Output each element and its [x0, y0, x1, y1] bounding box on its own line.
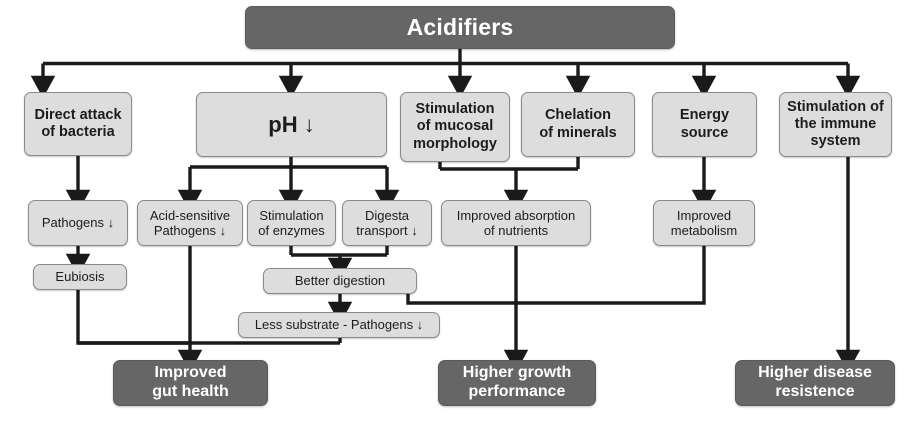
node-less-substrate-label: Less substrate - Pathogens ↓: [255, 317, 423, 332]
node-disease-resistence-label: Higher disease resistence: [758, 364, 872, 402]
node-eubiosis[interactable]: Eubiosis: [33, 264, 127, 290]
node-nutrient-absorption-label: Improved absorption of nutrients: [457, 208, 576, 239]
node-growth-performance[interactable]: Higher growth performance: [438, 360, 596, 406]
node-energy-source-label: Energy source: [680, 107, 729, 141]
node-acid-sensitive-label: Acid-sensitive Pathogens ↓: [150, 208, 230, 239]
wire-digestion-to-growth: [408, 294, 516, 303]
node-mucosal-morphology-label: Stimulation of mucosal morphology: [413, 101, 497, 152]
node-metabolism-label: Improved metabolism: [671, 208, 737, 239]
node-pathogens-label: Pathogens ↓: [42, 215, 114, 230]
node-ph-down-label: pH ↓: [268, 112, 314, 138]
flowchart-canvas: Acidifiers Direct attack of bacteria pH …: [0, 0, 920, 422]
node-better-digestion-label: Better digestion: [295, 273, 385, 288]
wire-metabolism-to-growth: [516, 246, 704, 303]
node-direct-attack-label: Direct attack of bacteria: [34, 107, 121, 141]
node-growth-performance-label: Higher growth performance: [463, 364, 571, 402]
node-metabolism[interactable]: Improved metabolism: [653, 200, 755, 246]
node-gut-health[interactable]: Improved gut health: [113, 360, 268, 406]
node-acidifiers[interactable]: Acidifiers: [245, 6, 675, 49]
node-immune-system-label: Stimulation of the immune system: [787, 99, 884, 150]
node-acidifiers-label: Acidifiers: [407, 14, 514, 41]
node-enzymes[interactable]: Stimulation of enzymes: [247, 200, 336, 246]
node-mucosal-morphology[interactable]: Stimulation of mucosal morphology: [400, 92, 510, 162]
node-direct-attack[interactable]: Direct attack of bacteria: [24, 92, 132, 156]
node-energy-source[interactable]: Energy source: [652, 92, 757, 157]
node-digesta-transport[interactable]: Digesta transport ↓: [342, 200, 432, 246]
node-enzymes-label: Stimulation of enzymes: [258, 208, 324, 239]
node-disease-resistence[interactable]: Higher disease resistence: [735, 360, 895, 406]
node-chelation[interactable]: Chelation of minerals: [521, 92, 635, 157]
node-eubiosis-label: Eubiosis: [55, 269, 104, 284]
node-pathogens[interactable]: Pathogens ↓: [28, 200, 128, 246]
node-nutrient-absorption[interactable]: Improved absorption of nutrients: [441, 200, 591, 246]
node-less-substrate[interactable]: Less substrate - Pathogens ↓: [238, 312, 440, 338]
node-acid-sensitive[interactable]: Acid-sensitive Pathogens ↓: [137, 200, 243, 246]
node-chelation-label: Chelation of minerals: [539, 107, 616, 141]
node-immune-system[interactable]: Stimulation of the immune system: [779, 92, 892, 157]
node-digesta-transport-label: Digesta transport ↓: [356, 208, 417, 239]
wire-eubiosis-to-gut: [78, 290, 190, 343]
node-gut-health-label: Improved gut health: [152, 364, 228, 402]
node-ph-down[interactable]: pH ↓: [196, 92, 387, 157]
node-better-digestion[interactable]: Better digestion: [263, 268, 417, 294]
